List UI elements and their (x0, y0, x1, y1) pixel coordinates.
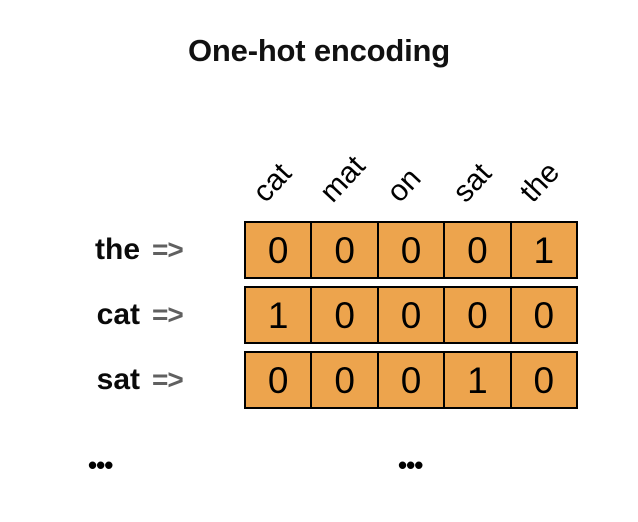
vector-cell: 0 (379, 288, 445, 342)
vector-cell: 0 (379, 353, 445, 407)
row-vector: 0 0 0 0 1 (244, 221, 578, 279)
vector-cell: 0 (312, 353, 378, 407)
one-hot-encoding-figure: One-hot encoding cat mat on sat the the … (0, 0, 638, 522)
cells-truncation-ellipsis: ••• (398, 452, 422, 478)
vector-cell: 0 (246, 223, 312, 277)
column-header-label: sat (448, 158, 497, 208)
vector-cell: 0 (246, 353, 312, 407)
vector-cell: 0 (512, 353, 576, 407)
vector-cell: 0 (512, 288, 576, 342)
vector-cell: 1 (445, 353, 511, 407)
vector-cell: 0 (312, 288, 378, 342)
column-header-label: mat (315, 151, 371, 208)
figure-title: One-hot encoding (0, 33, 638, 69)
vector-cell: 0 (379, 223, 445, 277)
vector-cell: 0 (312, 223, 378, 277)
vector-cell: 1 (512, 223, 576, 277)
row-word-label: sat (0, 365, 140, 395)
column-header-label: cat (248, 158, 297, 208)
row-word-label: the (0, 235, 140, 265)
row-arrow-icon: => (152, 236, 222, 264)
row-arrow-icon: => (152, 301, 222, 329)
vector-cell: 0 (445, 223, 511, 277)
row-vector: 1 0 0 0 0 (244, 286, 578, 344)
row-word-label: cat (0, 300, 140, 330)
table-row: sat => 0 0 0 1 0 (0, 351, 638, 409)
row-arrow-icon: => (152, 366, 222, 394)
table-row: the => 0 0 0 0 1 (0, 221, 638, 279)
vector-cell: 0 (445, 288, 511, 342)
table-row: cat => 1 0 0 0 0 (0, 286, 638, 344)
column-header-label: on (382, 163, 427, 208)
row-vector: 0 0 0 1 0 (244, 351, 578, 409)
column-header-label: the (515, 157, 565, 208)
vector-cell: 1 (246, 288, 312, 342)
rows-truncation-ellipsis: ••• (88, 452, 112, 478)
